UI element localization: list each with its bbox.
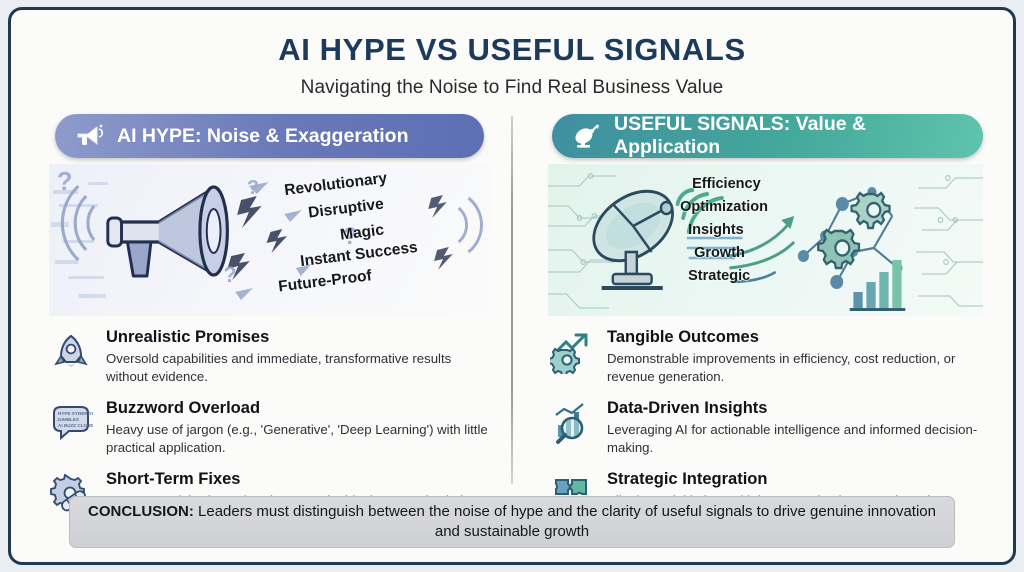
page-subtitle: Navigating the Noise to Find Real Busine… xyxy=(11,77,1013,99)
bullet-heading: Tangible Outcomes xyxy=(607,328,983,347)
panel-columns: AI HYPE: Noise & Exaggeration xyxy=(11,108,1013,490)
rocket-icon xyxy=(49,330,93,374)
page-title: AI HYPE VS USEFUL SIGNALS xyxy=(11,32,1013,68)
signals-header-label: USEFUL SIGNALS: Value & Application xyxy=(614,113,963,159)
signal-keywords: Efficiency Optimization Insights Growth … xyxy=(674,176,768,291)
list-item: Unrealistic Promises Oversold capabiliti… xyxy=(49,328,490,385)
growth-arrow-gear-icon xyxy=(550,330,594,374)
signal-word: Strategic xyxy=(688,268,768,284)
list-item: Data-Driven Insights Leveraging AI for a… xyxy=(550,399,983,456)
bullet-body: Heavy use of jargon (e.g., 'Generative',… xyxy=(106,421,490,456)
bullet-heading: Buzzword Overload xyxy=(106,399,490,418)
conclusion-bar: CONCLUSION: Leaders must distinguish bet… xyxy=(69,496,955,548)
panel-signals: USEFUL SIGNALS: Value & Application xyxy=(512,108,1013,490)
hype-header-label: AI HYPE: Noise & Exaggeration xyxy=(117,125,408,148)
bullet-heading: Unrealistic Promises xyxy=(106,328,490,347)
buzzword: Disruptive xyxy=(308,191,419,222)
conclusion-text: Leaders must distinguish between the noi… xyxy=(194,503,936,540)
svg-text:?: ? xyxy=(223,262,236,287)
signals-header-pill: USEFUL SIGNALS: Value & Application xyxy=(552,114,983,158)
megaphone-illustration: ? ? ? ? Revolutionary xyxy=(49,164,490,316)
column-divider xyxy=(511,116,513,484)
conclusion-label: CONCLUSION: xyxy=(88,503,194,520)
svg-text:?: ? xyxy=(57,168,73,196)
svg-text:?: ? xyxy=(247,177,259,199)
signal-word: Growth xyxy=(694,245,768,261)
chart-magnifier-icon xyxy=(550,401,594,445)
list-item: Tangible Outcomes Demonstrable improveme… xyxy=(550,328,983,385)
signal-word: Insights xyxy=(688,222,768,238)
megaphone-art-svg: ? ? ? ? xyxy=(49,164,490,316)
svg-text:AI BUZZ CLOUD: AI BUZZ CLOUD xyxy=(58,423,93,428)
satellite-dish-icon xyxy=(572,123,602,149)
panel-hype: AI HYPE: Noise & Exaggeration xyxy=(11,108,512,490)
speech-bubble-jargon-icon: HYPE SYNERGY JUMBLES AI BUZZ CLOUD xyxy=(49,401,93,445)
bullet-body: Oversold capabilities and immediate, tra… xyxy=(106,350,490,385)
megaphone-icon xyxy=(75,123,105,149)
hype-header-pill: AI HYPE: Noise & Exaggeration xyxy=(55,114,484,158)
list-item: HYPE SYNERGY JUMBLES AI BUZZ CLOUD Buzzw… xyxy=(49,399,490,456)
hype-buzzwords: Revolutionary Disruptive Magic Instant S… xyxy=(278,174,418,294)
bullet-body: Leveraging AI for actionable intelligenc… xyxy=(607,421,983,456)
infographic-frame: AI HYPE VS USEFUL SIGNALS Navigating the… xyxy=(8,7,1016,565)
satellite-network-illustration: Efficiency Optimization Insights Growth … xyxy=(548,164,983,316)
bullet-heading: Strategic Integration xyxy=(607,470,983,489)
signal-word: Efficiency xyxy=(692,176,768,192)
svg-text:HYPE SYNERGY: HYPE SYNERGY xyxy=(58,411,93,416)
hype-bullet-list: Unrealistic Promises Oversold capabiliti… xyxy=(49,328,490,516)
svg-text:JUMBLES: JUMBLES xyxy=(57,417,79,422)
signal-word: Optimization xyxy=(680,199,768,215)
bullet-heading: Short-Term Fixes xyxy=(106,470,488,489)
buzzword: Future-Proof xyxy=(278,262,419,297)
bullet-body: Demonstrable improvements in efficiency,… xyxy=(607,350,983,385)
bullet-heading: Data-Driven Insights xyxy=(607,399,983,418)
